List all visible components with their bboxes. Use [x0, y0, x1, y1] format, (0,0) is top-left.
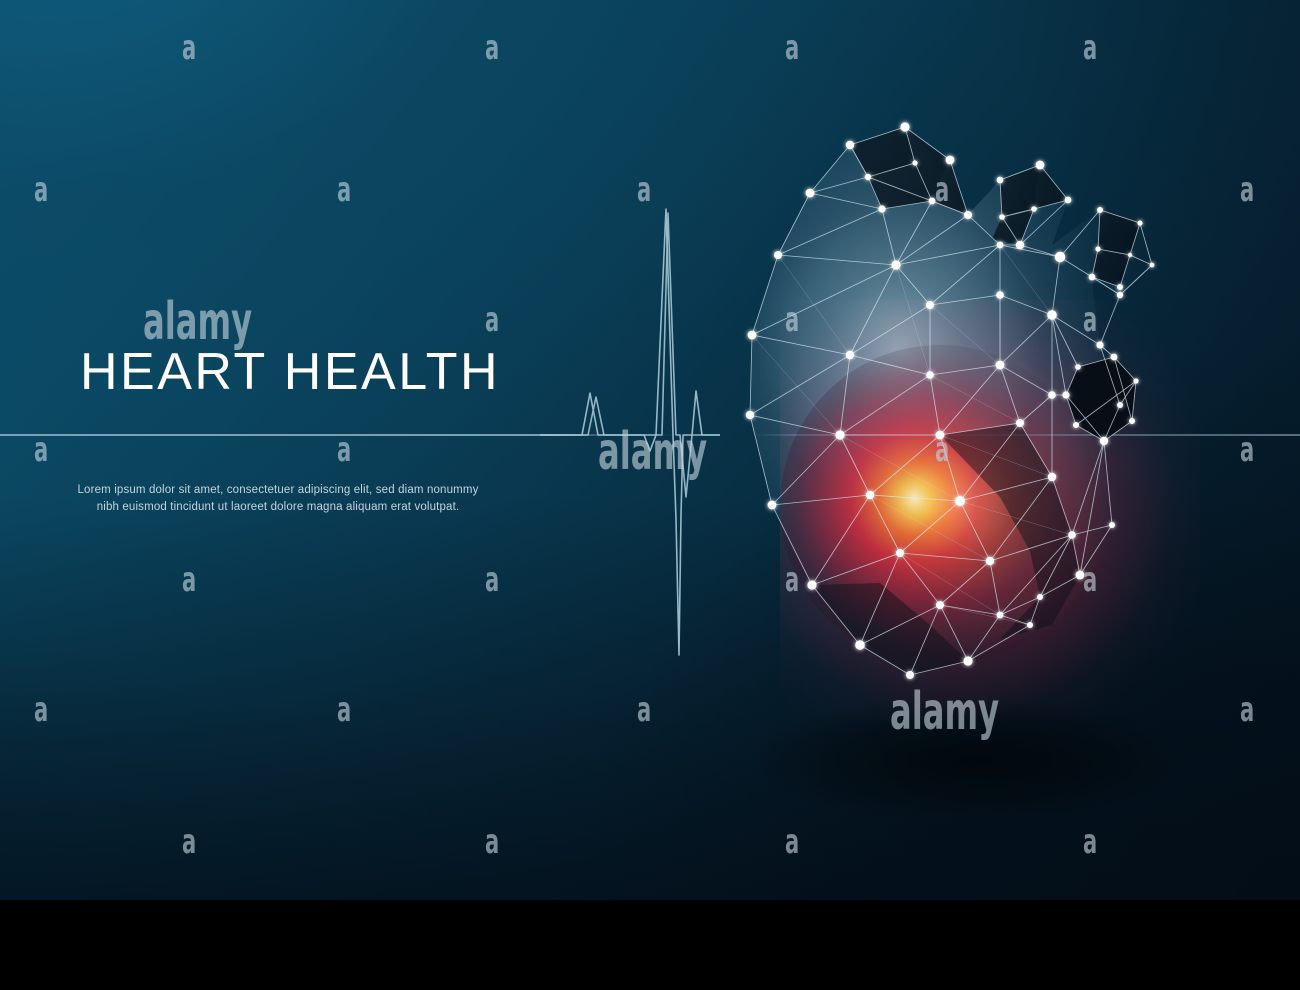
- watermark-mark: a: [485, 300, 499, 340]
- watermark-mark: a: [637, 690, 651, 730]
- watermark-mark: a: [34, 690, 48, 730]
- artwork-background: a a a a a a a a a alamy a a a a a a alam…: [0, 0, 1300, 900]
- footer-bar: alamy Image ID: 2K42HMN www.alamy.com: [0, 900, 1300, 990]
- watermark-mark: a: [1240, 690, 1254, 730]
- watermark-mark: a: [182, 822, 196, 862]
- watermark-mark: a: [337, 430, 351, 470]
- watermark-mark: a: [485, 560, 499, 600]
- watermark-mark: a: [337, 170, 351, 210]
- watermark-mark: a: [1240, 430, 1254, 470]
- watermark-mark: a: [485, 28, 499, 68]
- watermark-mark: a: [485, 822, 499, 862]
- watermark-mark: a: [337, 690, 351, 730]
- poster-canvas: a a a a a a a a a alamy a a a a a a alam…: [0, 0, 1300, 990]
- body-paragraph: Lorem ipsum dolor sit amet, consectetuer…: [68, 482, 488, 515]
- watermark-mark: a: [34, 430, 48, 470]
- watermark-mark: a: [1083, 822, 1097, 862]
- page-title: HEART HEALTH: [80, 342, 500, 402]
- low-poly-wireframe-heart: [700, 105, 1180, 745]
- ecg-pulse-waveform: [540, 185, 720, 685]
- watermark-mark: a: [1083, 28, 1097, 68]
- watermark-mark: a: [182, 28, 196, 68]
- watermark-mark: a: [785, 28, 799, 68]
- watermark-mark: a: [785, 822, 799, 862]
- watermark-mark: a: [182, 560, 196, 600]
- watermark-mark: a: [34, 170, 48, 210]
- watermark-mark: a: [1240, 170, 1254, 210]
